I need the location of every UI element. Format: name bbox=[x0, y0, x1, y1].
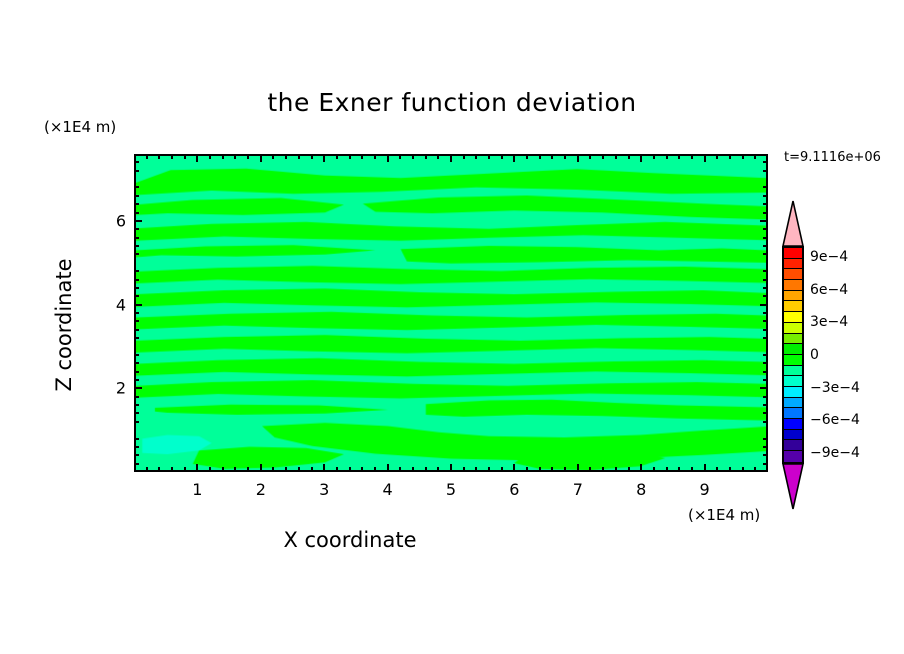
x-minor-tick-top bbox=[551, 154, 553, 159]
x-minor-tick-top bbox=[716, 154, 718, 159]
colorbar-band bbox=[784, 301, 802, 312]
y-minor-tick bbox=[134, 421, 139, 423]
x-major-tick bbox=[513, 464, 515, 472]
x-tick-label: 2 bbox=[256, 480, 266, 499]
x-minor-tick bbox=[475, 467, 477, 472]
x-minor-tick bbox=[298, 467, 300, 472]
colorbar-tick-label: −6e−4 bbox=[810, 412, 860, 428]
y-minor-tick-right bbox=[763, 203, 768, 205]
x-tick-label: 5 bbox=[446, 480, 456, 499]
x-minor-tick-top bbox=[399, 154, 401, 159]
y-minor-tick bbox=[134, 195, 139, 197]
y-minor-tick bbox=[134, 396, 139, 398]
y-minor-tick-right bbox=[763, 295, 768, 297]
colorbar-tick-label: −9e−4 bbox=[810, 445, 860, 461]
y-minor-tick-right bbox=[763, 279, 768, 281]
page-title: the Exner function deviation bbox=[0, 88, 904, 117]
y-minor-tick bbox=[134, 362, 139, 364]
colorbar: 9e−46e−43e−40−3e−4−6e−4−9e−4 bbox=[782, 200, 804, 510]
y-minor-tick-right bbox=[763, 438, 768, 440]
y-minor-tick-right bbox=[763, 362, 768, 364]
x-minor-tick-top bbox=[311, 154, 313, 159]
y-major-tick-right bbox=[760, 387, 768, 389]
colorbar-band bbox=[784, 344, 802, 355]
x-minor-tick bbox=[425, 467, 427, 472]
x-minor-tick-top bbox=[729, 154, 731, 159]
x-minor-tick bbox=[171, 467, 173, 472]
y-minor-tick bbox=[134, 337, 139, 339]
y-minor-tick bbox=[134, 320, 139, 322]
y-minor-tick bbox=[134, 412, 139, 414]
y-minor-tick bbox=[134, 463, 139, 465]
y-minor-tick-right bbox=[763, 454, 768, 456]
x-major-tick bbox=[640, 464, 642, 472]
colorbar-over-arrow-icon bbox=[782, 200, 804, 248]
x-minor-tick bbox=[602, 467, 604, 472]
y-minor-tick-right bbox=[763, 212, 768, 214]
colorbar-tick-label: 0 bbox=[810, 347, 819, 363]
x-minor-tick-top bbox=[285, 154, 287, 159]
y-minor-tick-right bbox=[763, 320, 768, 322]
y-minor-tick bbox=[134, 212, 139, 214]
x-minor-tick-top bbox=[272, 154, 274, 159]
y-minor-tick-right bbox=[763, 463, 768, 465]
x-major-tick bbox=[704, 464, 706, 472]
x-tick-label: 4 bbox=[383, 480, 393, 499]
y-minor-tick bbox=[134, 253, 139, 255]
x-tick-label: 1 bbox=[192, 480, 202, 499]
y-major-tick bbox=[134, 387, 142, 389]
x-major-tick-top bbox=[577, 154, 579, 162]
colorbar-band bbox=[784, 376, 802, 387]
x-minor-tick-top bbox=[539, 154, 541, 159]
x-minor-tick-top bbox=[209, 154, 211, 159]
x-minor-tick-top bbox=[171, 154, 173, 159]
y-minor-tick-right bbox=[763, 446, 768, 448]
x-minor-tick-top bbox=[412, 154, 414, 159]
plot-area bbox=[134, 154, 768, 472]
x-minor-tick bbox=[222, 467, 224, 472]
x-minor-tick-top bbox=[361, 154, 363, 159]
x-minor-tick-top bbox=[754, 154, 756, 159]
y-minor-tick bbox=[134, 446, 139, 448]
y-minor-tick-right bbox=[763, 379, 768, 381]
x-minor-tick-top bbox=[222, 154, 224, 159]
x-minor-tick-top bbox=[425, 154, 427, 159]
y-minor-tick-right bbox=[763, 371, 768, 373]
y-minor-tick bbox=[134, 228, 139, 230]
y-minor-tick bbox=[134, 312, 139, 314]
x-minor-tick bbox=[754, 467, 756, 472]
y-axis-title: Z coordinate bbox=[52, 235, 76, 415]
colorbar-band bbox=[784, 430, 802, 441]
x-minor-tick-top bbox=[615, 154, 617, 159]
colorbar-band bbox=[784, 269, 802, 280]
y-minor-tick bbox=[134, 454, 139, 456]
x-axis-title: X coordinate bbox=[0, 528, 700, 552]
x-minor-tick bbox=[551, 467, 553, 472]
x-minor-tick-top bbox=[666, 154, 668, 159]
x-major-tick bbox=[323, 464, 325, 472]
y-minor-tick-right bbox=[763, 421, 768, 423]
colorbar-band bbox=[784, 355, 802, 366]
x-minor-tick bbox=[374, 467, 376, 472]
y-minor-tick bbox=[134, 287, 139, 289]
x-major-tick-top bbox=[704, 154, 706, 162]
x-major-tick-top bbox=[387, 154, 389, 162]
x-minor-tick bbox=[742, 467, 744, 472]
y-minor-tick-right bbox=[763, 337, 768, 339]
x-minor-tick bbox=[146, 467, 148, 472]
timestamp-label: t=9.1116e+06 bbox=[784, 150, 881, 165]
x-minor-tick bbox=[653, 467, 655, 472]
x-minor-tick bbox=[666, 467, 668, 472]
x-tick-label: 6 bbox=[509, 480, 519, 499]
x-minor-tick bbox=[412, 467, 414, 472]
y-minor-tick-right bbox=[763, 195, 768, 197]
colorbar-bands bbox=[782, 246, 804, 464]
colorbar-band bbox=[784, 259, 802, 270]
y-minor-tick-right bbox=[763, 287, 768, 289]
y-minor-tick-right bbox=[763, 245, 768, 247]
x-minor-tick bbox=[437, 467, 439, 472]
y-minor-tick bbox=[134, 203, 139, 205]
colorbar-band bbox=[784, 312, 802, 323]
x-minor-tick bbox=[311, 467, 313, 472]
x-minor-tick-top bbox=[158, 154, 160, 159]
colorbar-band bbox=[784, 408, 802, 419]
x-minor-tick bbox=[628, 467, 630, 472]
x-minor-tick-top bbox=[742, 154, 744, 159]
x-minor-tick-top bbox=[184, 154, 186, 159]
x-tick-label: 3 bbox=[319, 480, 329, 499]
y-minor-tick bbox=[134, 438, 139, 440]
colorbar-band bbox=[784, 280, 802, 291]
x-minor-tick bbox=[272, 467, 274, 472]
x-minor-tick bbox=[285, 467, 287, 472]
y-minor-tick-right bbox=[763, 329, 768, 331]
x-minor-tick bbox=[184, 467, 186, 472]
y-major-tick bbox=[134, 220, 142, 222]
x-minor-tick bbox=[539, 467, 541, 472]
y-minor-tick bbox=[134, 354, 139, 356]
y-major-tick-right bbox=[760, 304, 768, 306]
x-minor-tick bbox=[691, 467, 693, 472]
y-minor-tick bbox=[134, 404, 139, 406]
x-minor-tick bbox=[234, 467, 236, 472]
x-major-tick bbox=[196, 464, 198, 472]
colorbar-band bbox=[784, 366, 802, 377]
x-major-tick bbox=[577, 464, 579, 472]
x-minor-tick-top bbox=[336, 154, 338, 159]
x-minor-tick bbox=[158, 467, 160, 472]
x-major-tick bbox=[387, 464, 389, 472]
x-minor-tick bbox=[463, 467, 465, 472]
colorbar-band bbox=[784, 334, 802, 345]
x-minor-tick-top bbox=[146, 154, 148, 159]
y-tick-label: 2 bbox=[104, 379, 126, 398]
x-major-tick-top bbox=[513, 154, 515, 162]
y-minor-tick bbox=[134, 279, 139, 281]
x-major-tick-top bbox=[450, 154, 452, 162]
x-minor-tick bbox=[526, 467, 528, 472]
x-minor-tick-top bbox=[602, 154, 604, 159]
y-minor-tick bbox=[134, 329, 139, 331]
y-minor-tick bbox=[134, 161, 139, 163]
x-tick-label: 9 bbox=[700, 480, 710, 499]
colorbar-tick-label: 3e−4 bbox=[810, 314, 848, 330]
x-minor-tick-top bbox=[298, 154, 300, 159]
colorbar-band bbox=[784, 440, 802, 451]
colorbar-band bbox=[784, 451, 802, 462]
x-minor-tick-top bbox=[589, 154, 591, 159]
colorbar-band bbox=[784, 291, 802, 302]
x-minor-tick bbox=[247, 467, 249, 472]
x-minor-tick bbox=[615, 467, 617, 472]
x-minor-tick-top bbox=[475, 154, 477, 159]
x-minor-tick-top bbox=[437, 154, 439, 159]
x-minor-tick-top bbox=[678, 154, 680, 159]
y-minor-tick bbox=[134, 270, 139, 272]
colorbar-tick-label: −3e−4 bbox=[810, 380, 860, 396]
x-minor-tick bbox=[336, 467, 338, 472]
x-minor-tick bbox=[716, 467, 718, 472]
x-major-tick-top bbox=[196, 154, 198, 162]
x-minor-tick-top bbox=[501, 154, 503, 159]
x-axis-units: (×1E4 m) bbox=[688, 506, 760, 524]
x-minor-tick-top bbox=[564, 154, 566, 159]
y-minor-tick bbox=[134, 170, 139, 172]
x-tick-label: 7 bbox=[573, 480, 583, 499]
x-minor-tick-top bbox=[374, 154, 376, 159]
contour-field bbox=[136, 156, 766, 470]
y-minor-tick-right bbox=[763, 237, 768, 239]
x-minor-tick bbox=[349, 467, 351, 472]
y-minor-tick bbox=[134, 379, 139, 381]
x-major-tick-top bbox=[640, 154, 642, 162]
y-minor-tick-right bbox=[763, 170, 768, 172]
x-major-tick bbox=[260, 464, 262, 472]
x-major-tick-top bbox=[260, 154, 262, 162]
y-minor-tick bbox=[134, 237, 139, 239]
colorbar-band bbox=[784, 323, 802, 334]
y-minor-tick-right bbox=[763, 404, 768, 406]
y-minor-tick-right bbox=[763, 354, 768, 356]
y-minor-tick-right bbox=[763, 228, 768, 230]
colorbar-tick-label: 6e−4 bbox=[810, 282, 848, 298]
x-major-tick bbox=[450, 464, 452, 472]
colorbar-under-arrow-icon bbox=[782, 462, 804, 510]
colorbar-band bbox=[784, 387, 802, 398]
x-minor-tick-top bbox=[526, 154, 528, 159]
y-minor-tick-right bbox=[763, 396, 768, 398]
colorbar-tick-label: 9e−4 bbox=[810, 249, 848, 265]
y-minor-tick-right bbox=[763, 270, 768, 272]
y-minor-tick-right bbox=[763, 253, 768, 255]
y-minor-tick bbox=[134, 371, 139, 373]
x-minor-tick bbox=[589, 467, 591, 472]
y-axis-units: (×1E4 m) bbox=[44, 118, 116, 136]
y-minor-tick bbox=[134, 295, 139, 297]
y-major-tick bbox=[134, 304, 142, 306]
y-minor-tick bbox=[134, 186, 139, 188]
x-minor-tick bbox=[399, 467, 401, 472]
x-minor-tick-top bbox=[234, 154, 236, 159]
y-minor-tick-right bbox=[763, 186, 768, 188]
y-minor-tick-right bbox=[763, 412, 768, 414]
colorbar-band bbox=[784, 248, 802, 259]
y-major-tick-right bbox=[760, 220, 768, 222]
x-minor-tick bbox=[209, 467, 211, 472]
x-minor-tick-top bbox=[247, 154, 249, 159]
x-minor-tick-top bbox=[349, 154, 351, 159]
x-minor-tick-top bbox=[463, 154, 465, 159]
x-minor-tick bbox=[678, 467, 680, 472]
x-major-tick-top bbox=[323, 154, 325, 162]
y-tick-label: 6 bbox=[104, 211, 126, 230]
x-minor-tick-top bbox=[628, 154, 630, 159]
y-minor-tick-right bbox=[763, 312, 768, 314]
x-minor-tick bbox=[361, 467, 363, 472]
x-minor-tick bbox=[501, 467, 503, 472]
x-minor-tick bbox=[564, 467, 566, 472]
y-minor-tick-right bbox=[763, 161, 768, 163]
y-minor-tick bbox=[134, 245, 139, 247]
x-tick-label: 8 bbox=[636, 480, 646, 499]
x-minor-tick-top bbox=[653, 154, 655, 159]
x-minor-tick-top bbox=[691, 154, 693, 159]
colorbar-band bbox=[784, 398, 802, 409]
y-tick-label: 4 bbox=[104, 295, 126, 314]
x-minor-tick bbox=[729, 467, 731, 472]
x-minor-tick bbox=[488, 467, 490, 472]
x-minor-tick-top bbox=[488, 154, 490, 159]
colorbar-band bbox=[784, 419, 802, 430]
